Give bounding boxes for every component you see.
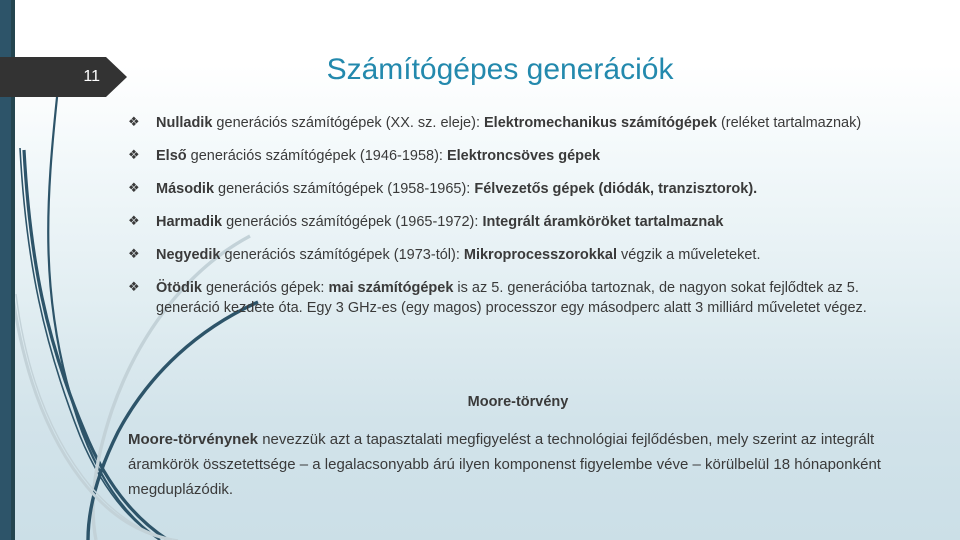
diamond-bullet-icon: ❖ — [128, 113, 156, 133]
list-item: ❖ Negyedik generációs számítógépek (1973… — [128, 245, 918, 265]
list-item: ❖ Ötödik generációs gépek: mai számítógé… — [128, 278, 918, 318]
list-item: ❖ Nulladik generációs számítógépek (XX. … — [128, 113, 918, 133]
slide-number-text: 11 — [0, 57, 100, 97]
list-item-text: Negyedik generációs számítógépek (1973-t… — [156, 245, 918, 265]
list-item-text: Ötödik generációs gépek: mai számítógépe… — [156, 278, 918, 318]
moore-law-heading: Moore-törvény — [128, 394, 908, 410]
diamond-bullet-icon: ❖ — [128, 179, 156, 199]
diamond-bullet-icon: ❖ — [128, 278, 156, 298]
diamond-bullet-icon: ❖ — [128, 146, 156, 166]
page-title: Számítógépes generációk — [150, 53, 850, 87]
diamond-bullet-icon: ❖ — [128, 245, 156, 265]
list-item-text: Második generációs számítógépek (1958-19… — [156, 179, 918, 199]
list-item-text: Harmadik generációs számítógépek (1965-1… — [156, 212, 918, 232]
slide-number-badge: 11 — [0, 57, 128, 97]
list-item-text: Nulladik generációs számítógépek (XX. sz… — [156, 113, 918, 133]
list-item: ❖ Harmadik generációs számítógépek (1965… — [128, 212, 918, 232]
presentation-slide: 11 Számítógépes generációk ❖ Nulladik ge… — [0, 0, 960, 540]
list-item: ❖ Első generációs számítógépek (1946-195… — [128, 146, 918, 166]
list-item: ❖ Második generációs számítógépek (1958-… — [128, 179, 918, 199]
diamond-bullet-icon: ❖ — [128, 212, 156, 232]
list-item-text: Első generációs számítógépek (1946-1958)… — [156, 146, 918, 166]
moore-law-paragraph: Moore-törvénynek nevezzük azt a tapaszta… — [128, 427, 890, 502]
bullet-list: ❖ Nulladik generációs számítógépek (XX. … — [128, 113, 918, 331]
